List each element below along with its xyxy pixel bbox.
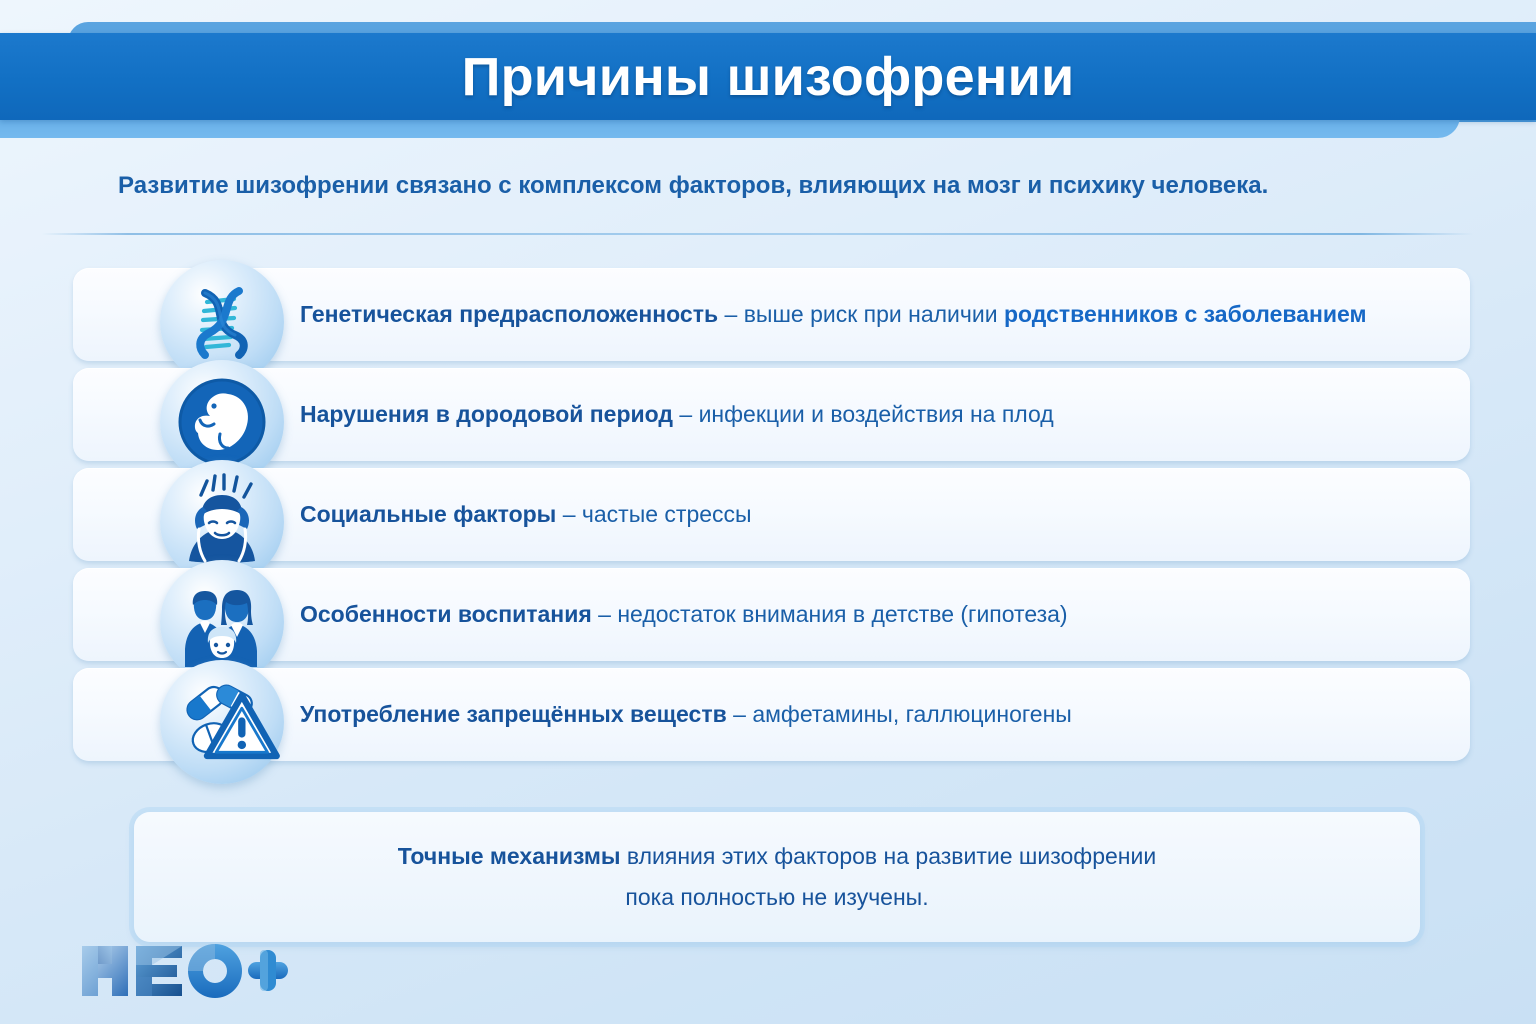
list-item[interactable]: Генетическая предрасположенность – выше … — [0, 268, 1536, 361]
row-dash: – — [727, 701, 753, 727]
row-dash: – — [673, 401, 699, 427]
row-detail: частые стрессы — [582, 501, 752, 527]
row-dash: – — [556, 501, 582, 527]
page-title: Причины шизофрении — [0, 33, 1536, 120]
intro-paragraph: Развитие шизофрении связано с комплексом… — [118, 172, 1438, 200]
row-highlight: родственников с заболеванием — [1004, 301, 1367, 327]
row-text: Употребление запрещённых веществ – амфет… — [300, 668, 1466, 761]
footer-note-line-2: пока полностью не изучены. — [625, 884, 928, 911]
intro-divider — [42, 233, 1474, 235]
row-detail: недостаток внимания в детстве (гипотеза) — [617, 601, 1067, 627]
footer-note-box: Точные механизмы влияния этих факторов н… — [134, 812, 1420, 942]
header-banner: Причины шизофрении — [0, 0, 1536, 145]
factor-list: Генетическая предрасположенность – выше … — [0, 268, 1536, 768]
row-detail: инфекции и воздействия на плод — [699, 401, 1054, 427]
list-item[interactable]: Социальные факторы – частые стрессы — [0, 468, 1536, 561]
neo-plus-logo[interactable] — [78, 940, 288, 1002]
row-text: Нарушения в дородовой период – инфекции … — [300, 368, 1466, 461]
row-dash: – — [718, 301, 744, 327]
list-item[interactable]: Употребление запрещённых веществ – амфет… — [0, 668, 1536, 761]
row-text: Социальные факторы – частые стрессы — [300, 468, 1466, 561]
row-detail: выше риск при наличии — [744, 301, 1004, 327]
row-title: Генетическая предрасположенность — [300, 301, 718, 327]
row-dash: – — [592, 601, 618, 627]
list-item[interactable]: Нарушения в дородовой период – инфекции … — [0, 368, 1536, 461]
row-title: Нарушения в дородовой период — [300, 401, 673, 427]
row-title: Употребление запрещённых веществ — [300, 701, 727, 727]
row-text: Особенности воспитания – недостаток вним… — [300, 568, 1466, 661]
row-detail: амфетамины, галлюциногены — [752, 701, 1071, 727]
footer-note-line-1: Точные механизмы влияния этих факторов н… — [398, 843, 1156, 870]
list-item[interactable]: Особенности воспитания – недостаток вним… — [0, 568, 1536, 661]
footer-note-emphasis: Точные механизмы — [398, 843, 621, 869]
row-title: Особенности воспитания — [300, 601, 592, 627]
pills-warning-icon — [160, 660, 284, 784]
row-title: Социальные факторы — [300, 501, 556, 527]
footer-note-rest: влияния этих факторов на развитие шизофр… — [621, 843, 1157, 869]
row-text: Генетическая предрасположенность – выше … — [300, 268, 1466, 361]
